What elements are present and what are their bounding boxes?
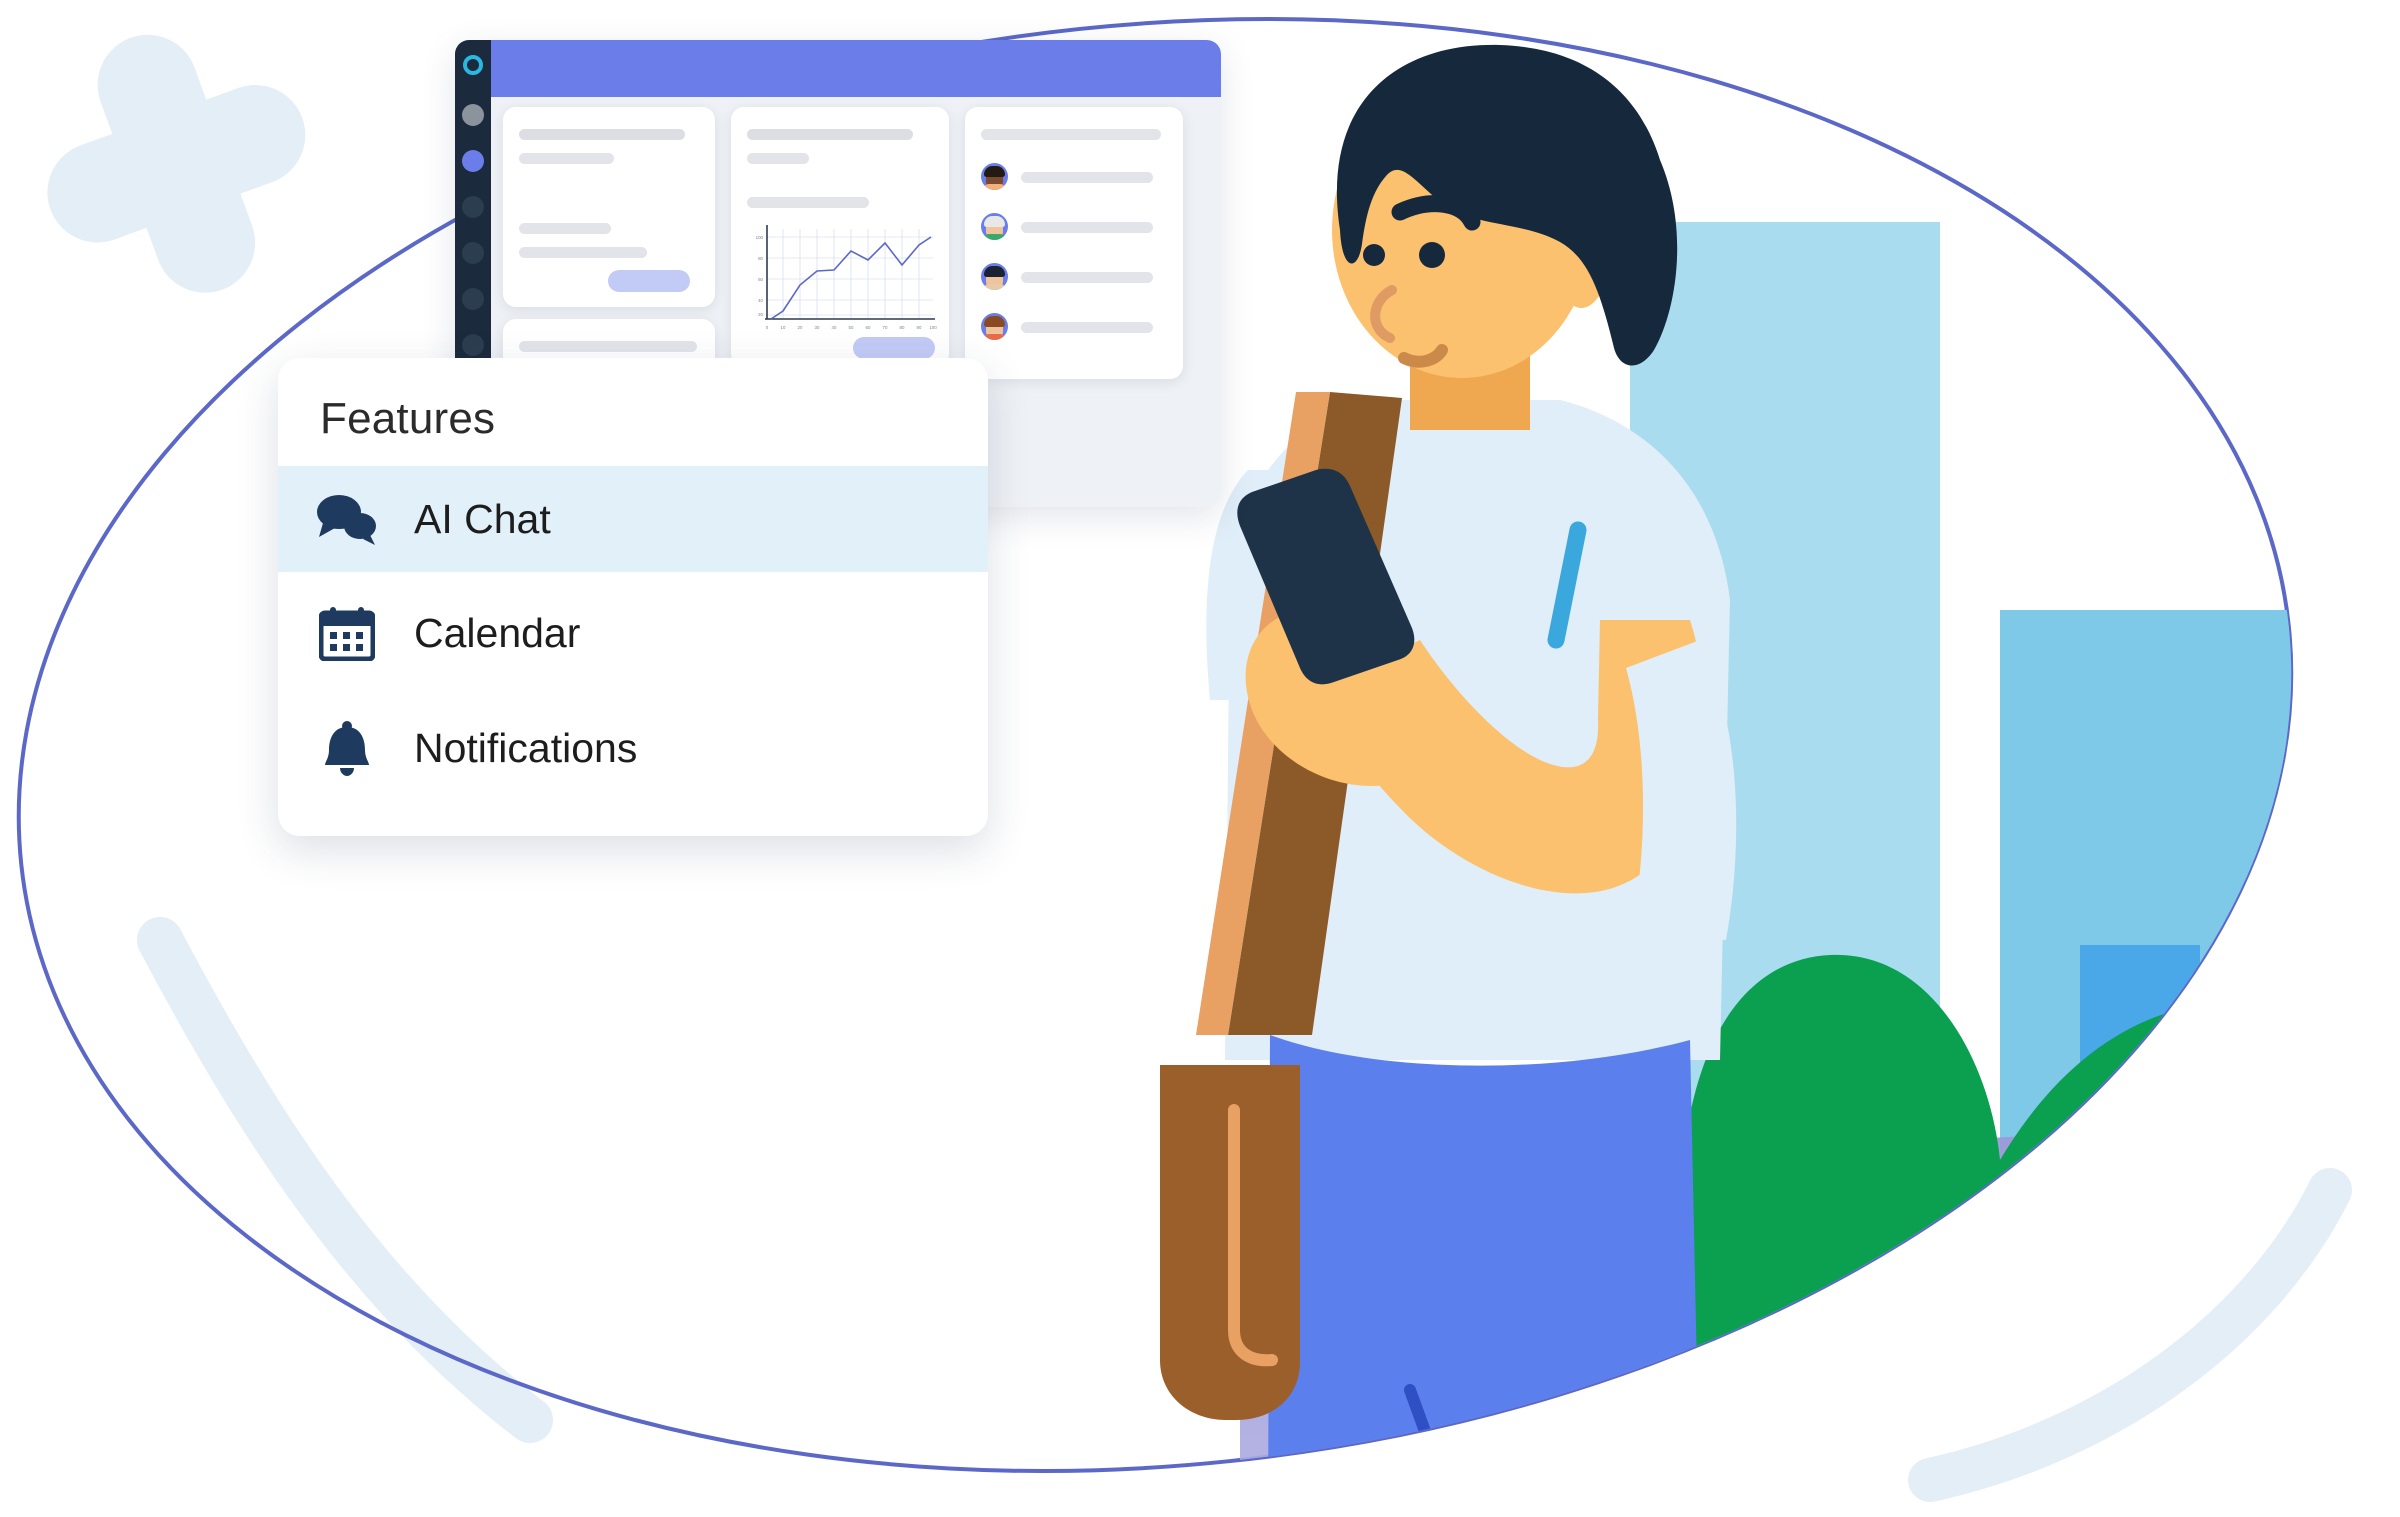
- svg-text:10: 10: [781, 325, 786, 330]
- svg-text:60: 60: [758, 277, 763, 282]
- placeholder-line: [519, 341, 697, 352]
- svg-text:70: 70: [883, 325, 888, 330]
- features-menu-card[interactable]: Features AI Chat: [278, 358, 988, 836]
- svg-text:100: 100: [756, 235, 764, 240]
- svg-text:0: 0: [766, 325, 769, 330]
- chart-card[interactable]: 10080 604020 01020 304050 607080 90100: [731, 107, 949, 367]
- line-chart: 10080 604020 01020 304050 607080 90100: [737, 215, 943, 335]
- avatar-2[interactable]: [981, 213, 1008, 240]
- bell-icon: [314, 720, 380, 776]
- menu-item-label: AI Chat: [414, 496, 551, 543]
- placeholder-line: [519, 129, 685, 140]
- calendar-icon: [314, 605, 380, 661]
- placeholder-line: [1021, 172, 1153, 183]
- placeholder-line: [981, 129, 1161, 140]
- eye-right: [1419, 242, 1445, 268]
- menu-item-label: Notifications: [414, 725, 637, 772]
- placeholder-line: [747, 129, 913, 140]
- svg-text:30: 30: [815, 325, 820, 330]
- nav-dot-3[interactable]: [462, 196, 484, 218]
- nav-dot-1[interactable]: [462, 104, 484, 126]
- placeholder-line: [519, 247, 647, 258]
- menu-item-label: Calendar: [414, 610, 580, 657]
- illustration-canvas: 10080 604020 01020 304050 607080 90100: [0, 0, 2400, 1517]
- nav-dot-4[interactable]: [462, 242, 484, 264]
- nav-dot-5[interactable]: [462, 288, 484, 310]
- menu-item-booking[interactable]: Booking: [278, 810, 988, 836]
- svg-text:20: 20: [758, 312, 763, 317]
- svg-text:60: 60: [866, 325, 871, 330]
- placeholder-line: [1021, 272, 1153, 283]
- svg-text:100: 100: [929, 325, 937, 330]
- menu-item-ai-chat[interactable]: AI Chat: [278, 466, 988, 572]
- eye-left: [1363, 244, 1385, 266]
- placeholder-line: [519, 153, 614, 164]
- chat-bubbles-icon: [314, 493, 380, 545]
- svg-text:80: 80: [900, 325, 905, 330]
- placeholder-line: [747, 153, 809, 164]
- nav-dot-2[interactable]: [462, 150, 484, 172]
- svg-text:50: 50: [849, 325, 854, 330]
- avatar-4[interactable]: [981, 313, 1008, 340]
- placeholder-line: [1021, 222, 1153, 233]
- svg-text:20: 20: [798, 325, 803, 330]
- menu-item-notifications[interactable]: Notifications: [278, 695, 988, 801]
- svg-text:40: 40: [758, 298, 763, 303]
- placeholder-line: [519, 223, 611, 234]
- svg-text:40: 40: [832, 325, 837, 330]
- pants: [1268, 1035, 1700, 1517]
- svg-text:90: 90: [917, 325, 922, 330]
- nav-dot-6[interactable]: [462, 334, 484, 356]
- ring-logo-icon: [463, 55, 483, 75]
- card-action-button[interactable]: [608, 270, 690, 292]
- people-card[interactable]: [965, 107, 1183, 379]
- summary-card[interactable]: [503, 107, 715, 307]
- man-figure: [1160, 45, 1736, 1517]
- avatar-3[interactable]: [981, 263, 1008, 290]
- card-action-button[interactable]: [853, 337, 935, 359]
- page-title: Features: [320, 394, 495, 444]
- avatar-1[interactable]: [981, 163, 1008, 190]
- menu-item-calendar[interactable]: Calendar: [278, 580, 988, 686]
- placeholder-line: [1021, 322, 1153, 333]
- chart-title-placeholder: [747, 197, 869, 208]
- dashboard-header-bar: [491, 40, 1221, 97]
- svg-text:80: 80: [758, 256, 763, 261]
